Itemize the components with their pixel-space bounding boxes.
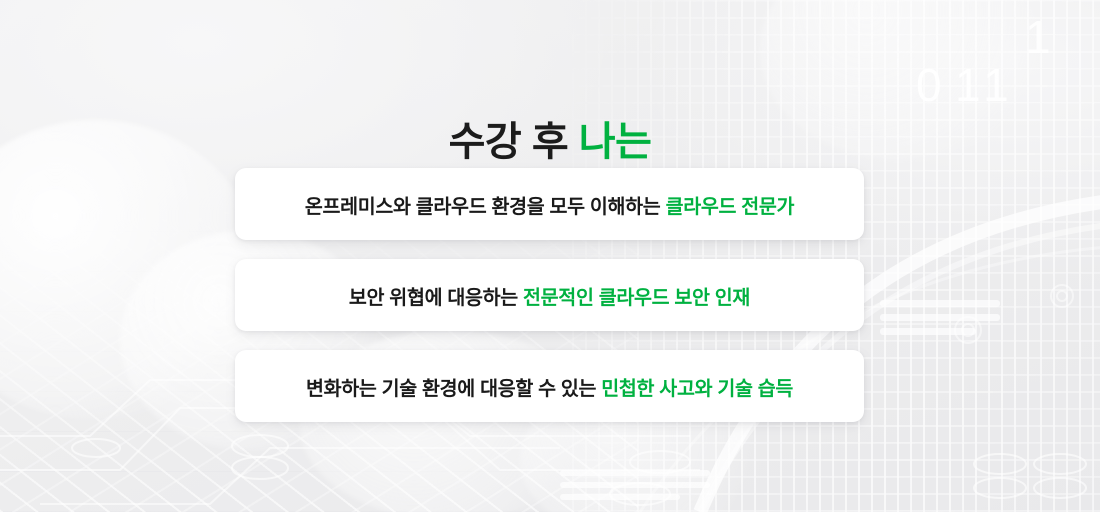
outcome-card-1: 온프레미스와 클라우드 환경을 모두 이해하는 클라우드 전문가 — [235, 168, 864, 240]
outcome-card-list: 온프레미스와 클라우드 환경을 모두 이해하는 클라우드 전문가 보안 위협에 … — [235, 168, 864, 422]
slide-canvas: 0 11 1 수강 후 나는 온프레미스와 클라우드 환경을 모두 이해하는 클… — [0, 0, 1100, 512]
outcome-card-3-text: 변화하는 기술 환경에 대응할 수 있는 민첩한 사고와 기술 습득 — [306, 372, 793, 401]
outcome-card-1-accent: 클라우드 전문가 — [666, 196, 795, 218]
outcome-card-3-plain: 변화하는 기술 환경에 대응할 수 있는 — [306, 378, 601, 400]
outcome-card-1-text: 온프레미스와 클라우드 환경을 모두 이해하는 클라우드 전문가 — [305, 190, 794, 219]
outcome-card-2: 보안 위협에 대응하는 전문적인 클라우드 보안 인재 — [235, 259, 864, 331]
outcome-card-3: 변화하는 기술 환경에 대응할 수 있는 민첩한 사고와 기술 습득 — [235, 350, 864, 422]
outcome-card-2-accent: 전문적인 클라우드 보안 인재 — [523, 287, 750, 309]
slide-content: 수강 후 나는 온프레미스와 클라우드 환경을 모두 이해하는 클라우드 전문가… — [0, 0, 1100, 512]
page-title-accent: 나는 — [579, 120, 652, 164]
page-title: 수강 후 나는 — [0, 109, 1100, 167]
outcome-card-2-plain: 보안 위협에 대응하는 — [349, 287, 523, 309]
page-title-plain: 수강 후 — [449, 120, 579, 164]
outcome-card-3-accent: 민첩한 사고와 기술 습득 — [601, 378, 793, 400]
outcome-card-2-text: 보안 위협에 대응하는 전문적인 클라우드 보안 인재 — [349, 281, 750, 310]
outcome-card-1-plain: 온프레미스와 클라우드 환경을 모두 이해하는 — [305, 196, 666, 218]
